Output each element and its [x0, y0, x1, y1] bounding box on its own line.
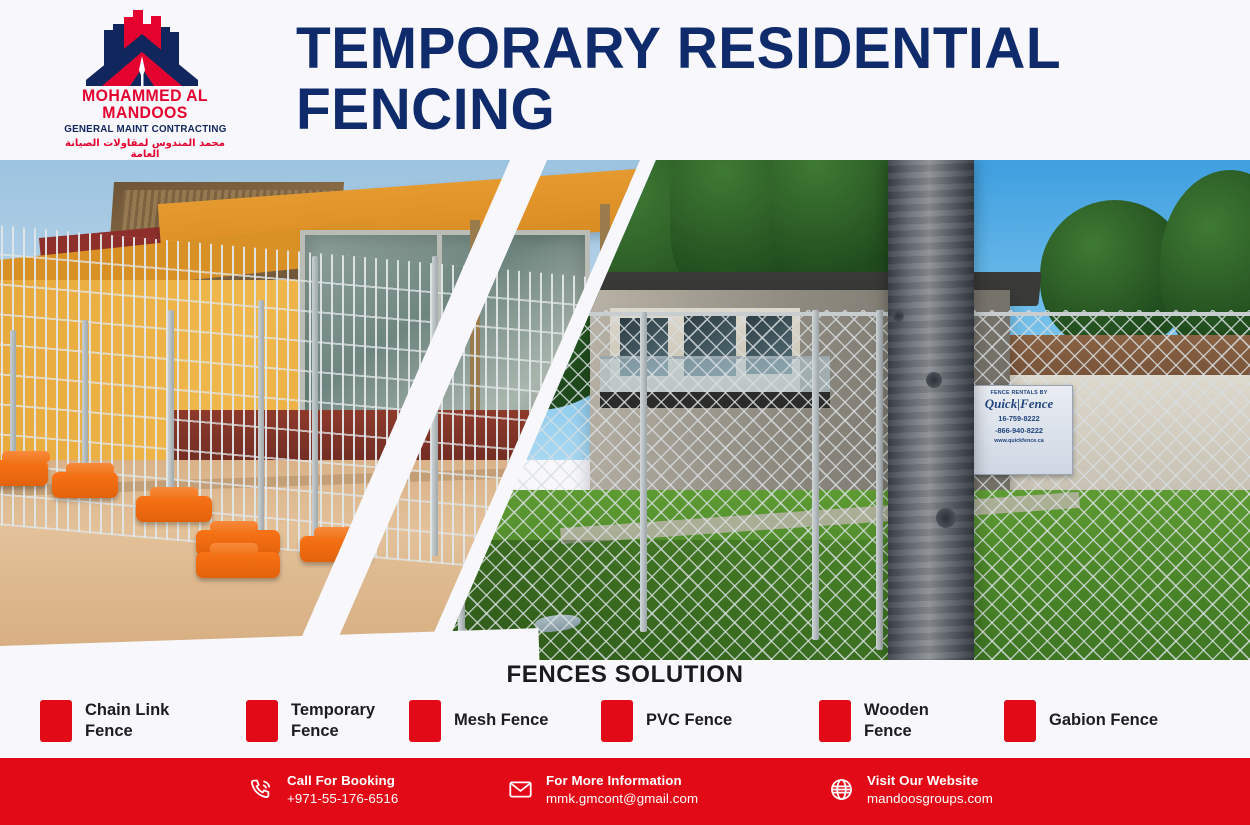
right-chain-link-mesh: [440, 310, 1250, 660]
chip-swatch-icon: [40, 700, 72, 742]
photo-band: FENCE RENTALS BY Quick|Fence 16-759-8222…: [0, 160, 1250, 660]
poster-header: MOHAMMED AL MANDOOS GENERAL MAINT CONTRA…: [0, 0, 1250, 160]
left-fence-post-4: [258, 300, 264, 535]
chip-swatch-icon: [1004, 700, 1036, 742]
chip-label: Wooden Fence: [864, 700, 954, 742]
company-logo: MOHAMMED AL MANDOOS GENERAL MAINT CONTRA…: [55, 8, 235, 136]
contact-phone-text: Call For Booking +971-55-176-6516: [287, 772, 398, 807]
right-pole-knot-2: [936, 508, 956, 528]
right-fence-post-3: [812, 310, 819, 640]
contact-website-value: mandoosgroups.com: [867, 790, 993, 808]
poster-root: MOHAMMED AL MANDOOS GENERAL MAINT CONTRA…: [0, 0, 1250, 825]
quickfence-rental-sign: FENCE RENTALS BY Quick|Fence 16-759-8222…: [965, 385, 1073, 475]
chip-label: PVC Fence: [646, 710, 732, 731]
logo-company-name: MOHAMMED AL MANDOOS: [59, 88, 232, 121]
section-title: FENCES SOLUTION: [0, 661, 1250, 689]
globe-icon: [828, 776, 855, 803]
chip-label: Mesh Fence: [454, 710, 548, 731]
contact-items: Call For Booking +971-55-176-6516 For Mo…: [0, 758, 1250, 825]
contact-email-value: mmk.gmcont@gmail.com: [546, 790, 698, 808]
email-icon: [507, 776, 534, 803]
chip-mesh-fence[interactable]: Mesh Fence: [409, 700, 548, 742]
chip-label: Chain Link Fence: [85, 700, 180, 742]
contact-website-text: Visit Our Website mandoosgroups.com: [867, 772, 993, 807]
chip-swatch-icon: [246, 700, 278, 742]
contact-website[interactable]: Visit Our Website mandoosgroups.com: [828, 772, 993, 807]
contact-email-text: For More Information mmk.gmcont@gmail.co…: [546, 772, 698, 807]
logo-tagline-row: GENERAL MAINT CONTRACTING: [55, 124, 235, 135]
phone-icon: [248, 776, 275, 803]
left-fence-base-5: [196, 552, 280, 578]
right-utility-pole: [888, 160, 974, 660]
left-fence-post-3: [168, 310, 174, 510]
sign-brand: Quick|Fence: [966, 397, 1072, 411]
left-fence-base-1: [0, 460, 48, 486]
chip-swatch-icon: [409, 700, 441, 742]
fence-category-list: Chain Link Fence Temporary Fence Mesh Fe…: [0, 700, 1250, 755]
headline-line-1: TEMPORARY RESIDENTIAL: [296, 18, 1158, 79]
right-fence-gate-post: [876, 310, 883, 650]
contact-email-title: For More Information: [546, 772, 698, 790]
right-pole-knot-3: [892, 310, 904, 322]
chip-wooden-fence[interactable]: Wooden Fence: [819, 700, 954, 742]
logo-tagline: GENERAL MAINT CONTRACTING: [64, 124, 226, 135]
chip-swatch-icon: [819, 700, 851, 742]
contact-phone-value: +971-55-176-6516: [287, 790, 398, 808]
chip-swatch-icon: [601, 700, 633, 742]
contact-email[interactable]: For More Information mmk.gmcont@gmail.co…: [507, 772, 698, 807]
sign-phone-1: 16-759-8222: [966, 414, 1072, 423]
logo-tagline-arabic: محمد المندوس لمقاولات الصيانة العامة: [55, 138, 235, 160]
contact-phone-title: Call For Booking: [287, 772, 398, 790]
chip-chain-link-fence[interactable]: Chain Link Fence: [40, 700, 180, 742]
left-fence-post-5: [312, 256, 318, 546]
page-title: TEMPORARY RESIDENTIAL FENCING: [296, 18, 1158, 141]
chip-label: Gabion Fence: [1049, 710, 1158, 731]
chip-pvc-fence[interactable]: PVC Fence: [601, 700, 732, 742]
chip-label: Temporary Fence: [291, 700, 391, 742]
headline-line-2: FENCING: [296, 79, 1158, 140]
chip-gabion-fence[interactable]: Gabion Fence: [1004, 700, 1158, 742]
buildings-roof-logo-icon: [55, 8, 235, 88]
sign-website: www.quickfence.ca: [966, 438, 1072, 444]
right-pole-knot-1: [926, 372, 942, 388]
left-fence-base-3: [136, 496, 212, 522]
contact-website-title: Visit Our Website: [867, 772, 993, 790]
sign-phone-2: -866-940-8222: [966, 426, 1072, 435]
contact-phone[interactable]: Call For Booking +971-55-176-6516: [248, 772, 398, 807]
chip-temporary-fence[interactable]: Temporary Fence: [246, 700, 391, 742]
contact-footer: Call For Booking +971-55-176-6516 For Mo…: [0, 758, 1250, 825]
left-fence-base-2: [52, 472, 118, 498]
right-fence-post-2: [640, 312, 647, 632]
